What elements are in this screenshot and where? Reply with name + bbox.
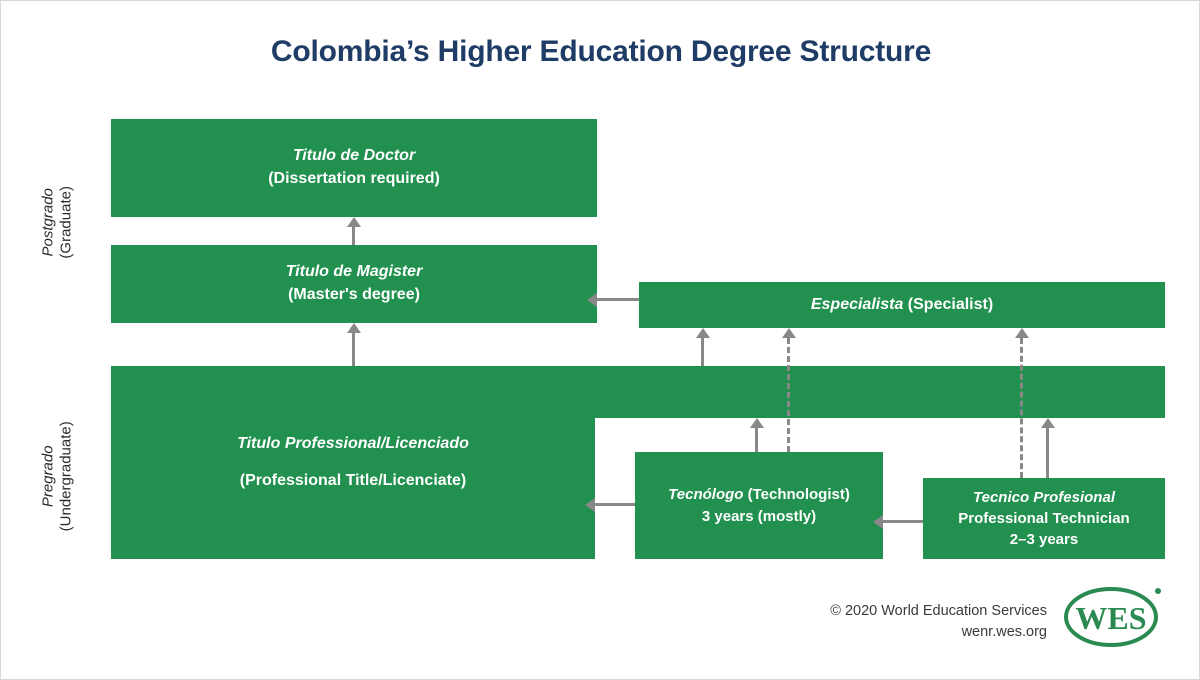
footer-copyright: © 2020 World Education Services <box>747 601 1047 622</box>
wes-logo: WES <box>1061 584 1165 650</box>
degree-box-doctor[interactable]: Titulo de Doctor (Dissertation required) <box>111 119 597 217</box>
level-label-postgrado-spanish: Postgrado <box>40 142 58 302</box>
degree-box-tecnologo-spanish: Tecnólogo <box>668 486 747 503</box>
degree-box-magister-english: (Master's degree) <box>288 284 420 307</box>
level-label-pregrado-spanish: Pregrado <box>40 396 58 556</box>
page-title: Colombia’s Higher Education Degree Struc… <box>1 35 1200 69</box>
degree-box-tecnologo[interactable]: Tecnólogo (Technologist) 3 years (mostly… <box>635 452 883 559</box>
degree-box-especialista-spanish: Especialista <box>811 296 908 313</box>
degree-box-magister-spanish: Titulo de Magister <box>286 261 423 284</box>
level-label-pregrado: Pregrado (Undergraduate) <box>40 396 77 556</box>
diagram-canvas: Colombia’s Higher Education Degree Struc… <box>0 0 1200 680</box>
degree-box-profesional-licenciado[interactable]: Titulo Professional/Licenciado (Professi… <box>111 366 595 559</box>
level-label-postgrado: Postgrado (Graduate) <box>40 142 77 302</box>
degree-box-tecnologo-duration: 3 years (mostly) <box>702 506 816 527</box>
degree-box-doctor-spanish: Titulo de Doctor <box>293 145 415 168</box>
wes-logo-text: WES <box>1075 600 1146 636</box>
degree-box-tecnico-profesional[interactable]: Tecnico Profesional Professional Technic… <box>923 478 1165 559</box>
footer-website: wenr.wes.org <box>747 622 1047 643</box>
degree-box-doctor-english: (Dissertation required) <box>268 168 440 191</box>
level-label-postgrado-english: (Graduate) <box>58 142 76 302</box>
degree-box-tecnico-duration: 2–3 years <box>1010 529 1078 550</box>
level-label-pregrado-english: (Undergraduate) <box>58 396 76 556</box>
degree-box-profesional-english: (Professional Title/Licenciate) <box>240 470 466 493</box>
footer-credit: © 2020 World Education Services wenr.wes… <box>747 601 1047 643</box>
degree-box-especialista[interactable]: Especialista (Specialist) <box>639 282 1165 328</box>
degree-box-magister[interactable]: Titulo de Magister (Master's degree) <box>111 245 597 323</box>
degree-box-especialista-label: Especialista (Specialist) <box>811 294 993 317</box>
degree-box-tecnico-english: Professional Technician <box>958 508 1129 529</box>
degree-box-profesional-spanish: Titulo Professional/Licenciado <box>237 433 469 456</box>
degree-box-tecnologo-english: (Technologist) <box>748 486 850 503</box>
degree-box-especialista-english: (Specialist) <box>908 296 993 313</box>
degree-box-tecnico-spanish: Tecnico Profesional <box>973 487 1115 508</box>
degree-box-tecnologo-title: Tecnólogo (Technologist) <box>668 484 850 505</box>
